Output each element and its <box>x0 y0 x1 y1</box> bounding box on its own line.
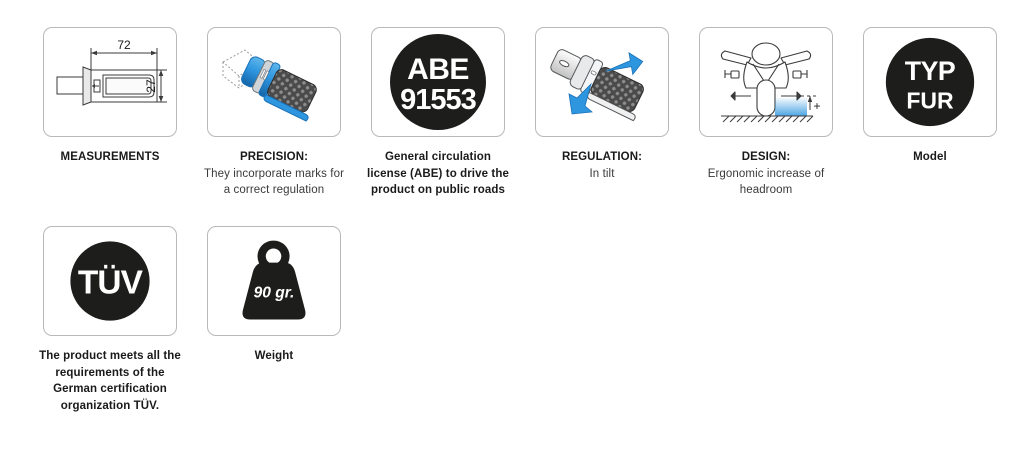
model-caption: Model <box>859 149 1001 166</box>
measurement-length-label: 72 <box>117 38 131 52</box>
tuv-badge-icon: TÜV <box>66 237 154 325</box>
feature-model: TYP FUR Model <box>863 27 997 166</box>
design-caption: DESIGN: Ergonomic increase of headroom <box>695 149 837 199</box>
tuv-badge-line1: TÜV <box>78 264 144 301</box>
regulation-caption: REGULATION: In tilt <box>531 149 673 182</box>
feature-weight: 90 gr. Weight <box>207 226 341 365</box>
motorcycle-front-headroom-icon: + <box>707 34 825 130</box>
footpeg-tilt-arrows-icon <box>543 34 661 130</box>
measurements-title: MEASUREMENTS <box>61 151 160 163</box>
regulation-title: REGULATION: <box>562 151 642 163</box>
precision-card <box>207 27 341 137</box>
model-card: TYP FUR <box>863 27 997 137</box>
feature-design: + DESIGN: <box>699 27 833 199</box>
design-card: + <box>699 27 833 137</box>
feature-row-1: 72 27 MEASUREMENTS <box>0 27 1024 199</box>
feature-precision: PRECISION: They incorporate marks for a … <box>207 27 341 199</box>
precision-caption: PRECISION: They incorporate marks for a … <box>203 149 345 199</box>
feature-row-2: TÜV The product meets all the requiremen… <box>0 226 1024 415</box>
tuv-title: The product meets all the requirements o… <box>39 350 181 412</box>
tuv-card: TÜV <box>43 226 177 336</box>
weight-card: 90 gr. <box>207 226 341 336</box>
footpeg-dimensions-icon: 72 27 <box>51 34 169 130</box>
precision-title: PRECISION: <box>240 151 308 163</box>
abe-badge-icon: ABE 91553 <box>388 32 488 132</box>
measurements-card: 72 27 <box>43 27 177 137</box>
weight-value-label: 90 gr. <box>254 285 295 302</box>
design-title: DESIGN: <box>742 151 791 163</box>
abe-badge-line2: 91553 <box>400 84 477 116</box>
weight-title: Weight <box>255 350 294 362</box>
regulation-card <box>535 27 669 137</box>
footpeg-precision-marks-icon <box>215 34 333 130</box>
model-badge-line1: TYP <box>905 56 956 86</box>
precision-desc: They incorporate marks for a correct reg… <box>204 168 344 197</box>
typ-fur-badge-icon: TYP FUR <box>884 36 976 128</box>
abe-badge-line1: ABE <box>407 53 469 86</box>
model-title: Model <box>913 151 947 163</box>
feature-abe: ABE 91553 General circulation license (A… <box>371 27 505 199</box>
design-desc: Ergonomic increase of headroom <box>708 168 825 197</box>
headroom-plus-marker: + <box>813 99 820 113</box>
model-badge-line2: FUR <box>906 88 954 114</box>
abe-card: ABE 91553 <box>371 27 505 137</box>
tuv-caption: The product meets all the requirements o… <box>39 348 181 415</box>
measurements-caption: MEASUREMENTS <box>39 149 181 166</box>
feature-tuv: TÜV The product meets all the requiremen… <box>43 226 177 415</box>
measurement-height-label: 27 <box>144 79 158 93</box>
weight-caption: Weight <box>203 348 345 365</box>
feature-regulation: REGULATION: In tilt <box>535 27 669 182</box>
abe-title: General circulation license (ABE) to dri… <box>367 151 509 196</box>
weight-kettlebell-icon: 90 gr. <box>228 237 320 325</box>
regulation-desc: In tilt <box>590 168 615 180</box>
feature-icon-board: 72 27 MEASUREMENTS <box>0 0 1024 465</box>
abe-caption: General circulation license (ABE) to dri… <box>367 149 509 199</box>
feature-measurements: 72 27 MEASUREMENTS <box>43 27 177 166</box>
